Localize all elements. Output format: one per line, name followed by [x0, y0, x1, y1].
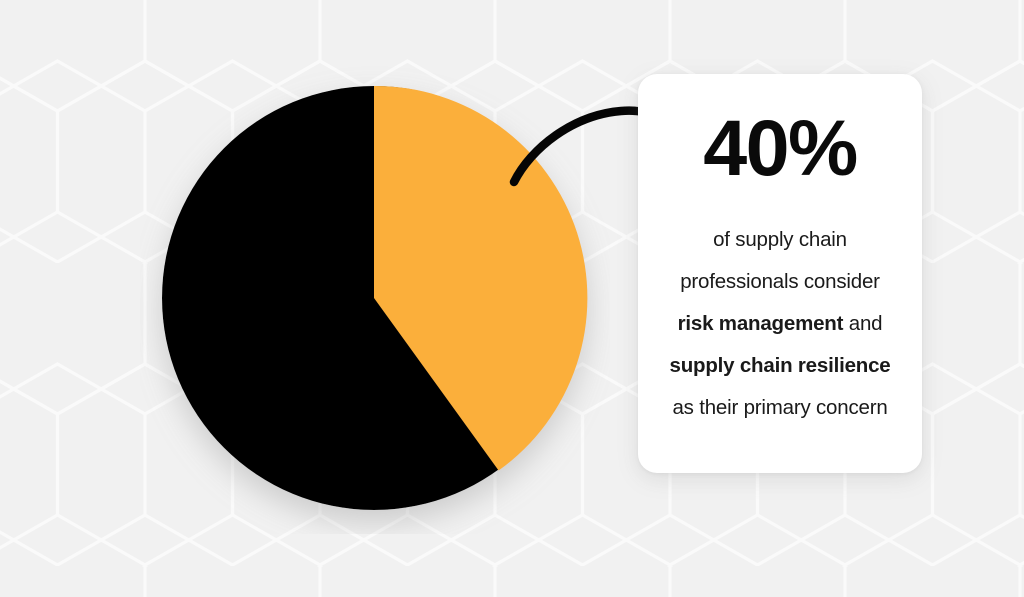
pie-chart [140, 64, 610, 534]
stat-value: 40% [703, 108, 857, 187]
stat-description-emphasis: supply chain resilience [670, 354, 891, 377]
stat-description-line: of supply chain [652, 219, 908, 261]
stat-description-line: professionals consider [652, 261, 908, 303]
stat-description-line: as their primary concern [652, 387, 908, 429]
stat-description-line: supply chain resilience [652, 345, 908, 387]
infographic-stage: 40% of supply chainprofessionals conside… [0, 0, 1024, 597]
stat-description-text: of supply chain [713, 228, 847, 251]
stat-callout-card: 40% of supply chainprofessionals conside… [638, 74, 922, 473]
stat-description: of supply chainprofessionals considerris… [652, 219, 908, 429]
stat-description-text: and [843, 312, 882, 335]
stat-description-text: professionals consider [680, 270, 880, 293]
pie-chart-svg [140, 64, 610, 534]
stat-description-line: risk management and [652, 303, 908, 345]
stat-description-text: as their primary concern [672, 396, 887, 419]
stat-description-emphasis: risk management [678, 312, 844, 335]
